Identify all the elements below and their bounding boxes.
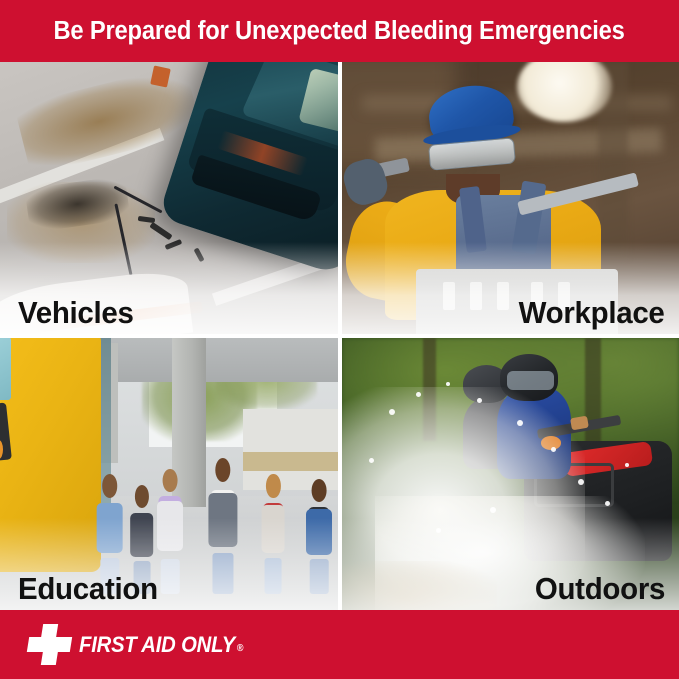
category-cell-outdoors[interactable]: Outdoors xyxy=(342,338,679,610)
category-cell-education[interactable]: Education xyxy=(0,338,338,610)
promotional-poster: Be Prepared for Unexpected Bleeding Emer… xyxy=(0,0,679,679)
footer-bar: FIRST AID ONLY ® xyxy=(0,610,679,679)
category-label-outdoors: Outdoors xyxy=(535,573,665,604)
category-label-workplace: Workplace xyxy=(519,297,665,328)
category-cell-vehicles[interactable]: Vehicles xyxy=(0,62,338,334)
category-cell-workplace[interactable]: Workplace xyxy=(342,62,679,334)
page-title: Be Prepared for Unexpected Bleeding Emer… xyxy=(54,17,625,46)
brand-name: FIRST AID ONLY xyxy=(79,632,235,658)
header-banner: Be Prepared for Unexpected Bleeding Emer… xyxy=(0,0,679,62)
registered-trademark-symbol: ® xyxy=(237,643,243,654)
brand-wordmark: FIRST AID ONLY ® xyxy=(79,632,243,658)
category-label-education: Education xyxy=(18,573,158,604)
category-label-vehicles: Vehicles xyxy=(18,297,134,328)
brand-logo[interactable]: FIRST AID ONLY ® xyxy=(28,624,262,666)
category-grid: Vehicles xyxy=(0,62,679,610)
first-aid-cross-icon xyxy=(28,624,70,666)
